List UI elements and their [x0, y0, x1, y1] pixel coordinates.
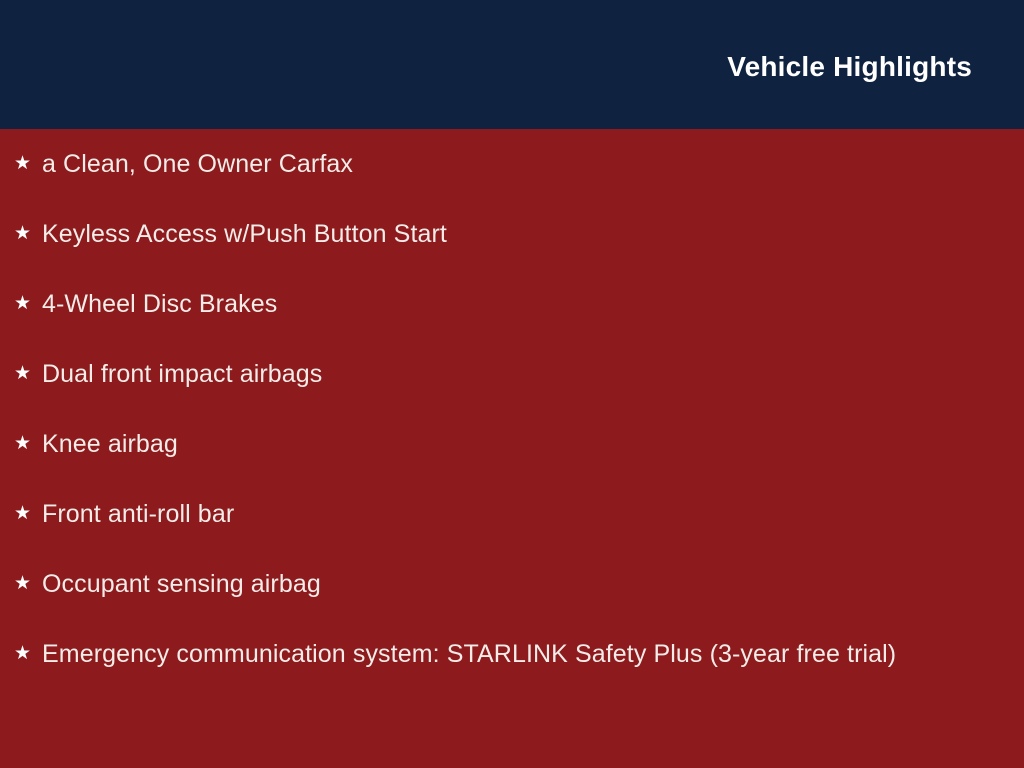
- list-item: ★ Knee airbag: [14, 426, 996, 462]
- list-item: ★ Emergency communication system: STARLI…: [14, 636, 996, 672]
- star-icon: ★: [14, 146, 42, 182]
- page-title: Vehicle Highlights: [727, 52, 972, 83]
- list-item: ★ 4-Wheel Disc Brakes: [14, 286, 996, 322]
- star-icon: ★: [14, 216, 42, 252]
- vehicle-highlights-slide: Vehicle Highlights ★ a Clean, One Owner …: [0, 0, 1024, 768]
- star-icon: ★: [14, 356, 42, 392]
- list-item-label: Front anti-roll bar: [42, 496, 996, 532]
- star-icon: ★: [14, 286, 42, 322]
- list-item-label: Knee airbag: [42, 426, 996, 462]
- list-item: ★ Front anti-roll bar: [14, 496, 996, 532]
- list-item-label: 4-Wheel Disc Brakes: [42, 286, 996, 322]
- slide-body: ★ a Clean, One Owner Carfax ★ Keyless Ac…: [0, 129, 1024, 768]
- list-item: ★ Keyless Access w/Push Button Start: [14, 216, 996, 252]
- list-item-label: a Clean, One Owner Carfax: [42, 146, 996, 182]
- slide-header: Vehicle Highlights: [0, 0, 1024, 129]
- star-icon: ★: [14, 426, 42, 462]
- list-item-label: Dual front impact airbags: [42, 356, 996, 392]
- vehicle-highlights-list: ★ a Clean, One Owner Carfax ★ Keyless Ac…: [14, 146, 996, 672]
- list-item-label: Keyless Access w/Push Button Start: [42, 216, 996, 252]
- star-icon: ★: [14, 496, 42, 532]
- star-icon: ★: [14, 566, 42, 602]
- list-item-label: Occupant sensing airbag: [42, 566, 996, 602]
- list-item-label: Emergency communication system: STARLINK…: [42, 636, 996, 672]
- star-icon: ★: [14, 636, 42, 672]
- list-item: ★ Occupant sensing airbag: [14, 566, 996, 602]
- list-item: ★ Dual front impact airbags: [14, 356, 996, 392]
- list-item: ★ a Clean, One Owner Carfax: [14, 146, 996, 182]
